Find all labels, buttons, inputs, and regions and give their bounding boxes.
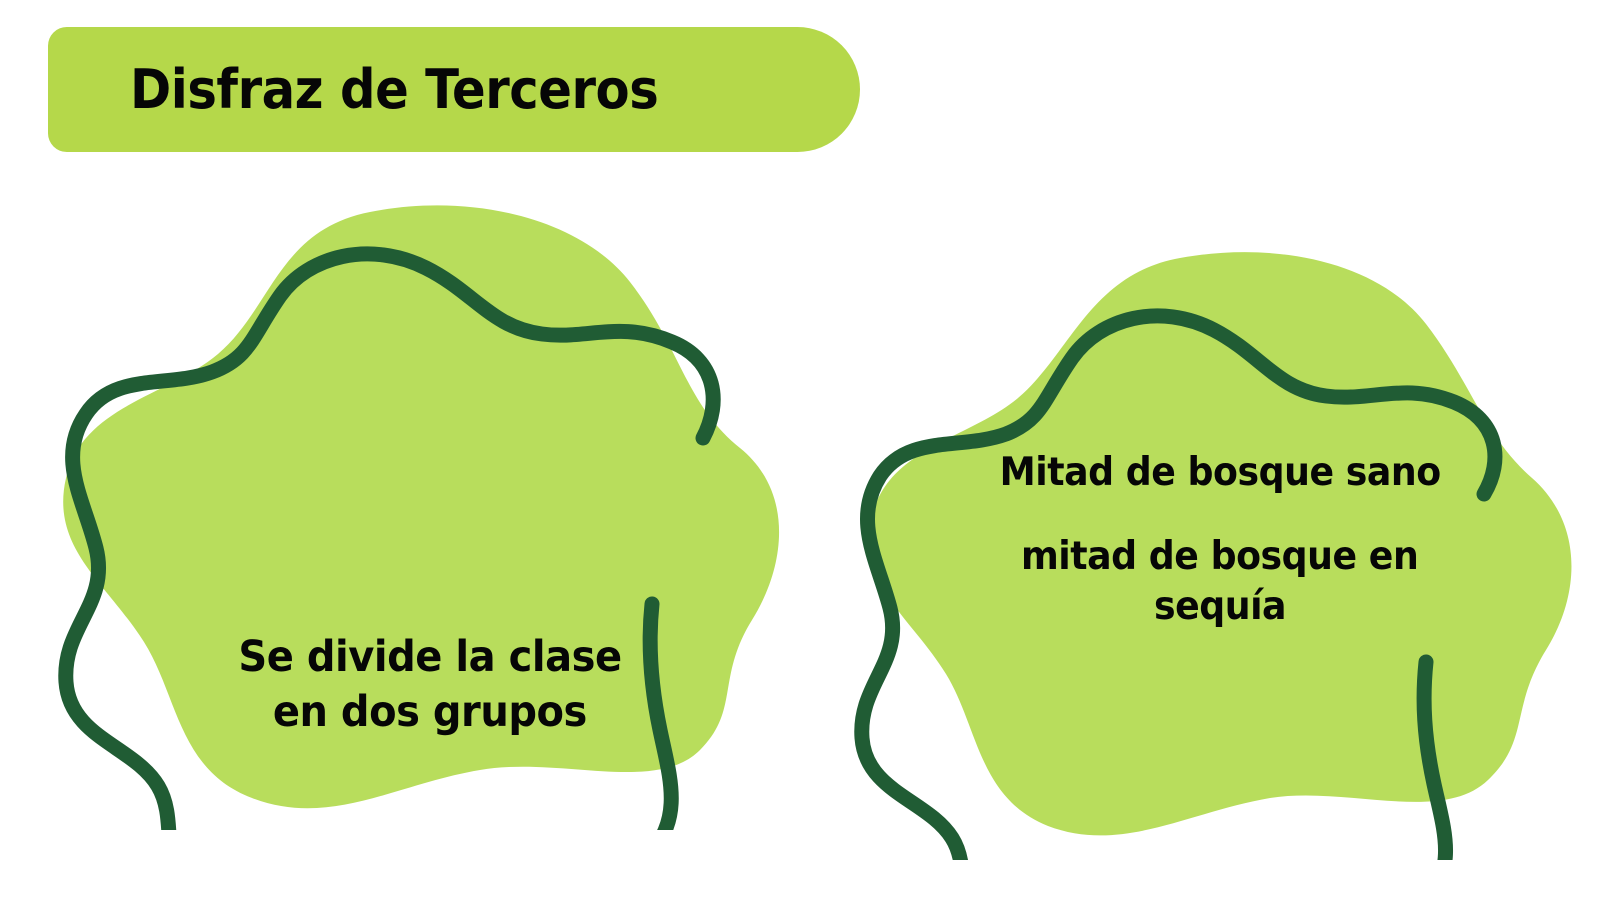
slide-canvas: Disfraz de Terceros Se divide la clase e… bbox=[0, 0, 1600, 900]
right-blob-graphic bbox=[820, 240, 1600, 860]
left-blob-graphic bbox=[40, 190, 800, 830]
title-banner: Disfraz de Terceros bbox=[48, 27, 860, 152]
group-division-card: Se divide la clase en dos grupos bbox=[40, 190, 800, 830]
blob-fill-shape bbox=[63, 205, 779, 808]
page-title: Disfraz de Terceros bbox=[130, 63, 658, 117]
forest-condition-card: Mitad de bosque sano mitad de bosque en … bbox=[820, 240, 1600, 860]
